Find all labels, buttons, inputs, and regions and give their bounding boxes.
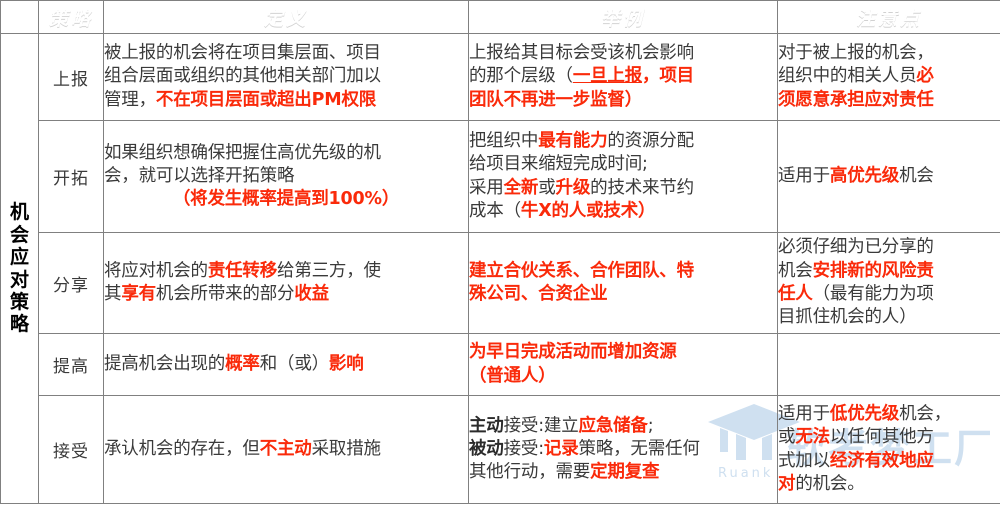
text-run: 如果组织想确保把握住高优先级的机 (104, 143, 381, 163)
text-run: 应急储备 (579, 416, 648, 436)
text-run: 将应对机会的 (104, 261, 208, 281)
notes-cell: 适用于高优先级机会 (778, 121, 1000, 233)
text-line: 组合层面或组织的其他相关部门加以 (104, 65, 468, 88)
example-cell: 把组织中最有能力的资源分配给项目来缩短完成时间;采用全新或升级的技术来节约成本（… (469, 121, 778, 233)
text-run: 的技术来节约 (590, 178, 694, 198)
text-run: 以任何其他方 (830, 427, 934, 447)
text-run: 其 (104, 284, 121, 304)
text-run: 的那个层级（ (469, 66, 573, 86)
text-run: 必须仔细为已分享的 (778, 237, 934, 257)
text-line: （将发生概率提高到100%） (104, 188, 468, 211)
text-run: 会，就可以选择开拓策略 (104, 166, 294, 186)
text-run: 组织中的相关人员 (778, 66, 916, 86)
text-run: 概率 (225, 354, 260, 374)
text-run: 给第三方，使 (277, 261, 381, 281)
strategy-name-cell: 开拓 (39, 121, 104, 233)
text-line: 式加以经济有效地应 (778, 450, 1000, 473)
header-definition: 定义 (104, 1, 469, 34)
text-line: 主动接受:建立应急储备; (469, 415, 777, 438)
strategy-name-cell: 提高 (39, 334, 104, 396)
text-run: 承认机会的存在，但 (104, 439, 260, 459)
text-run: 管理， (104, 90, 156, 110)
text-run: 升级 (556, 178, 591, 198)
text-line: 被动接受:记录策略，无需任何 (469, 438, 777, 461)
text-line: 殊公司、合资企业 (469, 283, 777, 306)
table-row: 开拓如果组织想确保把握住高优先级的机会，就可以选择开拓策略（将发生概率提高到10… (1, 121, 1000, 233)
text-run: 机会， (899, 404, 951, 424)
text-run: 式加以 (778, 451, 830, 471)
text-line: 承认机会的存在，但不主动采取措施 (104, 438, 468, 461)
strategy-grid: 策略 定义 举例 注意点 机会应对策略上报被上报的机会将在项目集层面、项目组合层… (0, 0, 1000, 504)
text-line: 如果组织想确保把握住高优先级的机 (104, 142, 468, 165)
text-line: 为早日完成活动而增加资源 (469, 341, 777, 364)
opportunity-response-strategy-table: 软考梦工厂 Ruank 策略 定义 举例 注意点 机会应对策略上报被上报的机会将… (0, 0, 1000, 505)
text-run: 其他行动，需要 (469, 462, 590, 482)
text-run: 建立合伙关系、合作团队、特 (469, 261, 694, 281)
text-line: 采用全新或升级的技术来节约 (469, 177, 777, 200)
text-run: 经济有效地应 (830, 451, 934, 471)
example-cell: 建立合伙关系、合作团队、特殊公司、合资企业 (469, 233, 778, 334)
table-header-row: 策略 定义 举例 注意点 (1, 1, 1000, 34)
text-run: 高优先级 (830, 166, 899, 186)
text-line: 须愿意承担应对责任 (778, 89, 1000, 112)
text-run: 殊公司、合资企业 (469, 284, 607, 304)
text-run: 影响 (329, 354, 364, 374)
text-line: 团队不再进一步监督） (469, 89, 777, 112)
text-line: 组织中的相关人员必 (778, 65, 1000, 88)
text-line: 会，就可以选择开拓策略 (104, 165, 468, 188)
table-row: 接受承认机会的存在，但不主动采取措施主动接受:建立应急储备;被动接受:记录策略，… (1, 396, 1000, 504)
text-run: 被上报的机会将在项目集层面、项目 (104, 43, 381, 63)
text-run: 成本（ (469, 201, 521, 221)
text-run: （最有能力为项 (813, 284, 934, 304)
example-cell: 主动接受:建立应急储备;被动接受:记录策略，无需任何其他行动，需要定期复查 (469, 396, 778, 504)
text-line: 上报给其目标会受该机会影响 (469, 42, 777, 65)
text-line: 将应对机会的责任转移给第三方，使 (104, 260, 468, 283)
text-line: 其享有机会所带来的部分收益 (104, 283, 468, 306)
text-run: 适用于 (778, 166, 830, 186)
text-line: 其他行动，需要定期复查 (469, 461, 777, 484)
text-run: 和（或） (260, 354, 329, 374)
text-run: 机会 (778, 261, 813, 281)
table-row: 提高提高机会出现的概率和（或）影响为早日完成活动而增加资源（普通人） (1, 334, 1000, 396)
table-row: 分享将应对机会的责任转移给第三方，使其享有机会所带来的部分收益建立合伙关系、合作… (1, 233, 1000, 334)
text-run: 的资源分配 (607, 131, 694, 151)
text-line: 对的机会。 (778, 473, 1000, 496)
text-run: 给项目来缩短完成时间; (469, 154, 648, 174)
text-run: 责任转移 (208, 261, 277, 281)
text-run: （将发生概率提高到100%） (173, 189, 399, 209)
text-line: 机会安排新的风险责 (778, 260, 1000, 283)
strategy-name-cell: 接受 (39, 396, 104, 504)
definition-cell: 如果组织想确保把握住高优先级的机会，就可以选择开拓策略（将发生概率提高到100%… (104, 121, 469, 233)
notes-cell: 对于被上报的机会，组织中的相关人员必须愿意承担应对责任 (778, 34, 1000, 121)
text-run: 不在项目层面或超出PM权限 (156, 90, 376, 110)
text-run: 机会 (899, 166, 934, 186)
text-run: 低优先级 (830, 404, 899, 424)
text-run: 享有 (121, 284, 156, 304)
text-run: 上报给其目标会受该机会影响 (469, 43, 694, 63)
text-run: 提高机会出现的 (104, 354, 225, 374)
text-run: 采取措施 (312, 439, 381, 459)
text-line: 任人（最有能力为项 (778, 283, 1000, 306)
text-run: 或 (778, 427, 795, 447)
text-line: （普通人） (469, 365, 777, 388)
text-run: 被动 (469, 439, 504, 459)
text-run: 接受:建立 (504, 416, 579, 436)
text-line: 管理，不在项目层面或超出PM权限 (104, 89, 468, 112)
strategy-name-cell: 上报 (39, 34, 104, 121)
text-run: 一旦上报 (573, 66, 642, 86)
text-line: 成本（牛X的人或技术） (469, 200, 777, 223)
text-run: 机会所带来的部分 (156, 284, 294, 304)
text-run: 把组织中 (469, 131, 538, 151)
vertical-category-label: 机会应对策略 (1, 34, 39, 504)
text-line: 适用于低优先级机会， (778, 403, 1000, 426)
text-line: 适用于高优先级机会 (778, 165, 1000, 188)
text-run: 不主动 (260, 439, 312, 459)
example-cell: 为早日完成活动而增加资源（普通人） (469, 334, 778, 396)
text-line: 的那个层级（一旦上报，项目 (469, 65, 777, 88)
text-run: 对 (778, 474, 795, 494)
text-run: 安排新的风险责 (813, 261, 934, 281)
text-run: 无法 (795, 427, 830, 447)
text-run: 对于被上报的机会， (778, 43, 934, 63)
text-run: 记录 (544, 439, 579, 459)
text-line: 被上报的机会将在项目集层面、项目 (104, 42, 468, 65)
text-run: （普通人） (469, 366, 556, 386)
text-run: 定期复查 (590, 462, 659, 482)
text-run: 组合层面或组织的其他相关部门加以 (104, 66, 381, 86)
text-line: 把组织中最有能力的资源分配 (469, 130, 777, 153)
definition-cell: 承认机会的存在，但不主动采取措施 (104, 396, 469, 504)
text-line: 或无法以任何其他方 (778, 426, 1000, 449)
text-run: 或 (538, 178, 555, 198)
text-run: ，项目 (642, 66, 694, 86)
text-line: 提高机会出现的概率和（或）影响 (104, 353, 468, 376)
definition-cell: 将应对机会的责任转移给第三方，使其享有机会所带来的部分收益 (104, 233, 469, 334)
text-run: 最有能力 (538, 131, 607, 151)
text-run: 必 (916, 66, 933, 86)
text-run: 采用 (469, 178, 504, 198)
strategy-name-cell: 分享 (39, 233, 104, 334)
header-corner (1, 1, 39, 34)
text-run: 收益 (294, 284, 329, 304)
text-run: 任人 (778, 284, 813, 304)
definition-cell: 被上报的机会将在项目集层面、项目组合层面或组织的其他相关部门加以管理，不在项目层… (104, 34, 469, 121)
vertical-category-label-text: 机会应对策略 (9, 201, 31, 335)
header-notes: 注意点 (778, 1, 1000, 34)
text-line: 目抓住机会的人） (778, 306, 1000, 329)
text-run: 目抓住机会的人） (778, 307, 916, 327)
text-run: 为早日完成活动而增加资源 (469, 342, 677, 362)
text-line: 给项目来缩短完成时间; (469, 153, 777, 176)
header-strategy: 策略 (39, 1, 104, 34)
text-run: 策略，无需任何 (579, 439, 700, 459)
text-run: 牛X的人或技术） (521, 201, 655, 221)
text-run: 主动 (469, 416, 504, 436)
text-line: 建立合伙关系、合作团队、特 (469, 260, 777, 283)
notes-cell: 必须仔细为已分享的机会安排新的风险责任人（最有能力为项目抓住机会的人） (778, 233, 1000, 334)
notes-cell (778, 334, 1000, 396)
example-cell: 上报给其目标会受该机会影响的那个层级（一旦上报，项目团队不再进一步监督） (469, 34, 778, 121)
text-run: 团队不再进一步监督） (469, 90, 642, 110)
text-run: 接受: (504, 439, 544, 459)
definition-cell: 提高机会出现的概率和（或）影响 (104, 334, 469, 396)
text-run: 须愿意承担应对责任 (778, 90, 934, 110)
text-run: 适用于 (778, 404, 830, 424)
text-run: 的机会。 (795, 474, 864, 494)
text-line: 对于被上报的机会， (778, 42, 1000, 65)
notes-cell: 适用于低优先级机会，或无法以任何其他方式加以经济有效地应对的机会。 (778, 396, 1000, 504)
table-row: 机会应对策略上报被上报的机会将在项目集层面、项目组合层面或组织的其他相关部门加以… (1, 34, 1000, 121)
text-run: 全新 (504, 178, 539, 198)
text-line: 必须仔细为已分享的 (778, 236, 1000, 259)
table-body: 机会应对策略上报被上报的机会将在项目集层面、项目组合层面或组织的其他相关部门加以… (1, 34, 1000, 504)
text-run: ; (648, 416, 654, 436)
header-example: 举例 (469, 1, 778, 34)
